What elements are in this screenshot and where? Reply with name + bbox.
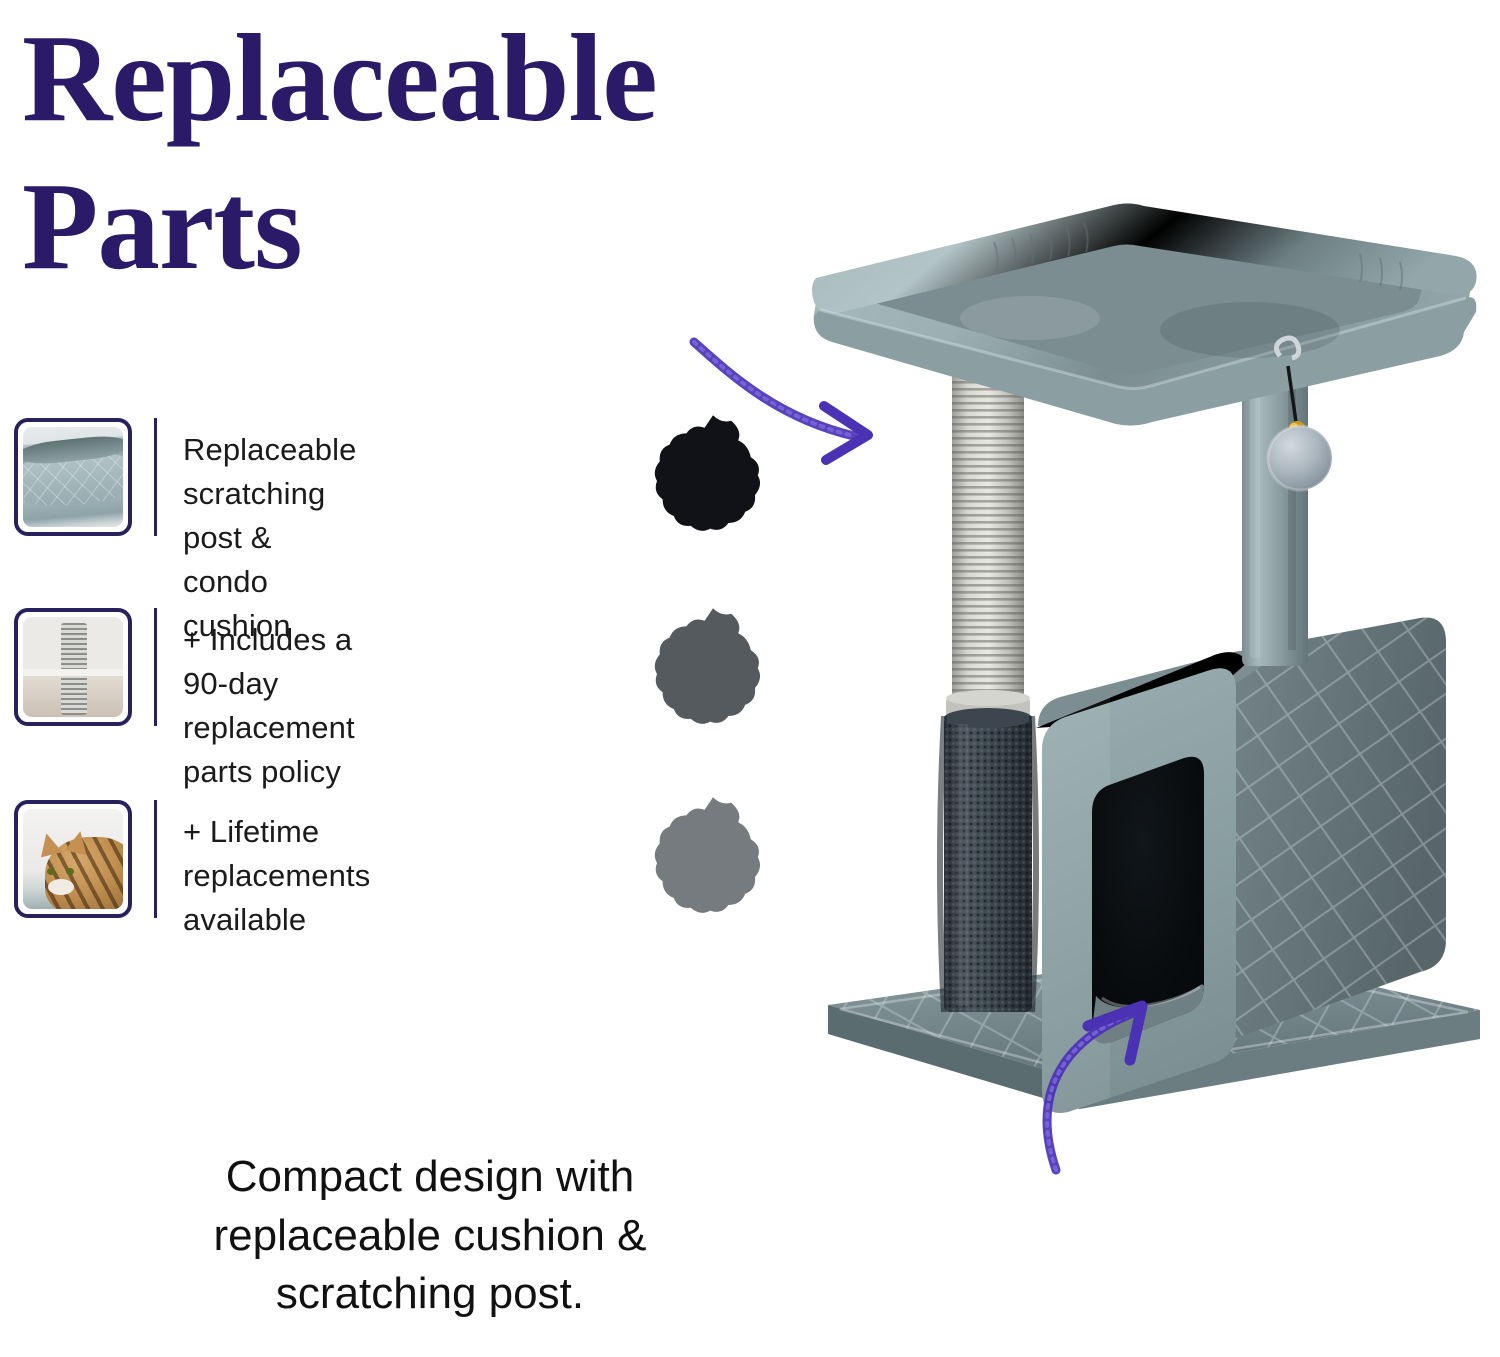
feature-divider [154,418,157,536]
arrow-to-scratching-post-icon [686,336,916,466]
feature-label: + Lifetime replacements available [183,800,370,942]
cat-thumbnail [14,800,132,918]
arrow-to-condo-cushion-icon [1010,950,1240,1180]
gear-badge-light-icon [643,793,783,933]
page-title: Replaceable Parts [22,6,842,301]
feature-item-2: + Includes a 90-day replacement parts po… [14,608,355,794]
feature-label: + Includes a 90-day replacement parts po… [183,608,355,794]
scratching-post-thumbnail [14,608,132,726]
feature-item-3: + Lifetime replacements available [14,800,370,942]
feature-divider [154,608,157,726]
feature-divider [154,800,157,918]
cushion-thumbnail [14,418,132,536]
gear-badge-medium-icon [643,604,783,744]
bottom-caption: Compact design with replaceable cushion … [80,1148,780,1324]
